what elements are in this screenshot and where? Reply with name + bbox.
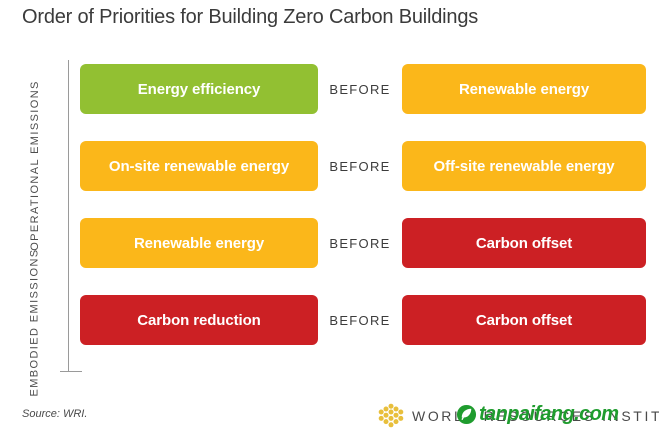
infographic-canvas: Order of Priorities for Building Zero Ca… — [0, 0, 659, 439]
priority-bar-right[interactable]: Renewable energy — [402, 64, 646, 114]
page-title: Order of Priorities for Building Zero Ca… — [22, 6, 478, 29]
watermark-text: tanpaifang.com — [479, 403, 618, 426]
priority-row: Energy efficiency BEFORE Renewable energ… — [80, 62, 646, 116]
priority-bar-right[interactable]: Carbon offset — [402, 218, 646, 268]
priority-bar-right[interactable]: Carbon offset — [402, 295, 646, 345]
priority-row: Carbon reduction BEFORE Carbon offset — [80, 293, 646, 347]
priority-bar-left[interactable]: On-site renewable energy — [80, 141, 318, 191]
priority-bar-right[interactable]: Off-site renewable energy — [402, 141, 646, 191]
priority-row: On-site renewable energy BEFORE Off-site… — [80, 139, 646, 193]
group-label-operational: OPERATIONAL EMISSIONS — [0, 60, 70, 270]
group-label-operational-text: OPERATIONAL EMISSIONS — [28, 80, 43, 251]
wri-diamond-icon — [378, 403, 404, 429]
group-label-embodied: EMBODIED EMISSIONS — [0, 272, 70, 372]
connector-label: BEFORE — [318, 313, 402, 328]
priority-row: Renewable energy BEFORE Carbon offset — [80, 216, 646, 270]
priority-bar-left[interactable]: Carbon reduction — [80, 295, 318, 345]
connector-label: BEFORE — [318, 82, 402, 97]
group-label-embodied-text: EMBODIED EMISSIONS — [28, 248, 43, 396]
priority-rows: Energy efficiency BEFORE Renewable energ… — [80, 62, 646, 347]
site-watermark: tanpaifang.com — [456, 402, 618, 426]
leaf-circle-icon — [456, 404, 477, 425]
connector-label: BEFORE — [318, 159, 402, 174]
priority-bar-left[interactable]: Renewable energy — [80, 218, 318, 268]
source-note: Source: WRI. — [22, 408, 87, 420]
priority-bar-left[interactable]: Energy efficiency — [80, 64, 318, 114]
connector-label: BEFORE — [318, 236, 402, 251]
